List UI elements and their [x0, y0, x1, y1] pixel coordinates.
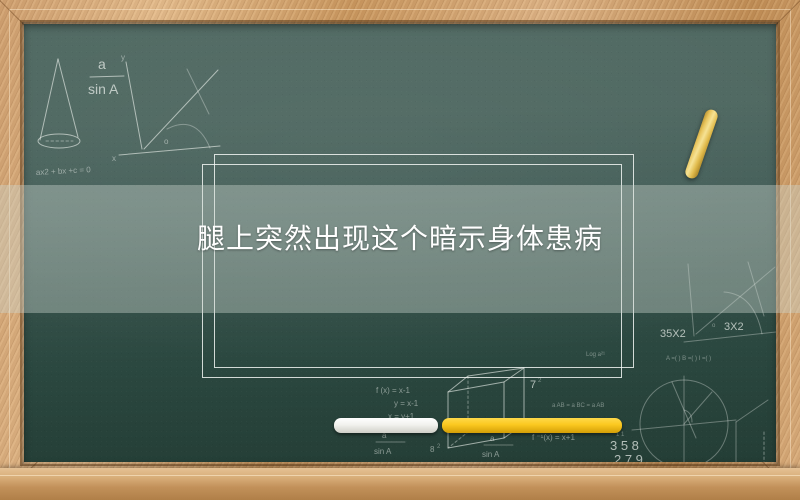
svg-text:o: o: [164, 137, 169, 146]
svg-text:2 7 9: 2 7 9: [614, 452, 643, 462]
chalk-cube-diagram-left: [448, 368, 524, 448]
chalk-white-piece: [334, 418, 438, 433]
svg-text:y: y: [121, 53, 125, 62]
chalk-label-8-squared: 8: [430, 445, 435, 454]
svg-text:sin A: sin A: [482, 450, 500, 459]
chalk-label-7-squared: 7: [530, 379, 536, 391]
svg-text:o: o: [712, 323, 716, 329]
chalk-tray: [48, 418, 776, 432]
chalk-function-equations: f (x) = x-1 y = x-1 x = y+1: [376, 386, 419, 421]
svg-text:a: a: [490, 434, 495, 443]
svg-text:sin A: sin A: [88, 81, 119, 97]
chalk-inverse-function: f ⁻¹(x) = x+1: [532, 433, 575, 442]
chalk-cone-diagram: [38, 59, 80, 148]
svg-text:2: 2: [538, 378, 542, 384]
svg-text:y = x-1: y = x-1: [394, 399, 419, 408]
svg-text:3 5 8: 3 5 8: [610, 438, 639, 453]
svg-text:A =( ) B =( ) I =( ): A =( ) B =( ) I =( ): [666, 356, 711, 362]
chalk-stick-yellow-wall: [684, 108, 720, 180]
chalk-fraction-a-sinA-topleft: a sin A: [88, 56, 124, 97]
chalk-label-35x2: 35X2: [660, 328, 686, 340]
chalk-small-note: a AB = a BC = a AB: [552, 403, 604, 409]
svg-text:sin A: sin A: [374, 447, 392, 456]
chalk-label-3x2: 3X2: [724, 321, 744, 333]
svg-text:1 1: 1 1: [616, 432, 625, 438]
svg-text:2: 2: [437, 444, 441, 450]
chalk-fraction-a-sinA-bottom1: a sin A: [374, 431, 405, 456]
chalk-angle-diagram-right: o: [684, 262, 776, 342]
page-title: 腿上突然出现这个暗示身体患病: [0, 219, 800, 259]
svg-text:x: x: [112, 154, 116, 163]
frame-bottom-ledge: [0, 468, 800, 500]
chalk-yellow-piece: [442, 418, 622, 433]
chalkboard-wooden-frame: a sin A ax2 + bx +c = 0 y x o: [0, 0, 800, 500]
chalk-matrix-notation: A =( ) B =( ) I =( ): [666, 356, 711, 362]
svg-text:a: a: [98, 56, 106, 72]
chalk-fraction-a-sinA-bottom2: a sin A: [482, 434, 513, 459]
chalk-axis-angle-diagram: y x o: [112, 53, 220, 163]
svg-text:f (x) = x-1: f (x) = x-1: [376, 386, 411, 395]
decorative-outline-rect-front: [202, 164, 622, 378]
chalk-quadratic-equation: ax2 + bx +c = 0: [36, 165, 92, 177]
